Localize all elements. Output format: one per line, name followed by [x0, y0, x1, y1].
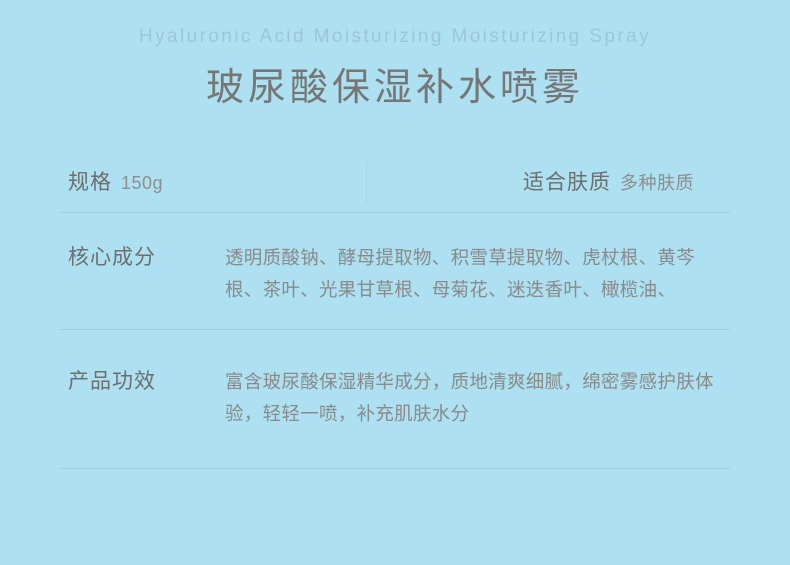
- spec-item-size: 规格 150g: [68, 166, 163, 196]
- section-label-core-ingredients: 核心成分: [68, 242, 225, 273]
- spec-value-size: 150g: [121, 173, 163, 194]
- section-label-product-efficacy: 产品功效: [68, 366, 225, 397]
- spec-label-skin-type: 适合肤质: [523, 166, 611, 196]
- section-core-ingredients: 核心成分 透明质酸钠、酵母提取物、积雪草提取物、虎杖根、黄芩根、茶叶、光果甘草根…: [0, 242, 790, 306]
- product-subtitle-english: Hyaluronic Acid Moisturizing Moisturizin…: [0, 26, 790, 49]
- page-header: Hyaluronic Acid Moisturizing Moisturizin…: [0, 0, 790, 112]
- page-title: 玻尿酸保湿补水喷雾: [0, 65, 790, 113]
- divider-after-spec-row: [60, 212, 730, 213]
- spec-vertical-divider: [366, 162, 367, 203]
- section-text-product-efficacy: 富含玻尿酸保湿精华成分，质地清爽细腻，绵密雾感护肤体验，轻轻一喷，补充肌肤水分: [225, 366, 717, 430]
- spec-value-skin-type: 多种肤质: [620, 169, 694, 195]
- section-text-core-ingredients: 透明质酸钠、酵母提取物、积雪草提取物、虎杖根、黄芩根、茶叶、光果甘草根、母菊花、…: [225, 242, 717, 306]
- divider-after-product-efficacy: [60, 468, 730, 469]
- divider-after-core-ingredients: [60, 329, 730, 330]
- specification-row: 规格 150g 适合肤质 多种肤质: [0, 152, 790, 210]
- section-product-efficacy: 产品功效 富含玻尿酸保湿精华成分，质地清爽细腻，绵密雾感护肤体验，轻轻一喷，补充…: [0, 366, 790, 430]
- spec-label-size: 规格: [68, 166, 112, 196]
- spec-item-skin-type: 适合肤质 多种肤质: [523, 166, 694, 196]
